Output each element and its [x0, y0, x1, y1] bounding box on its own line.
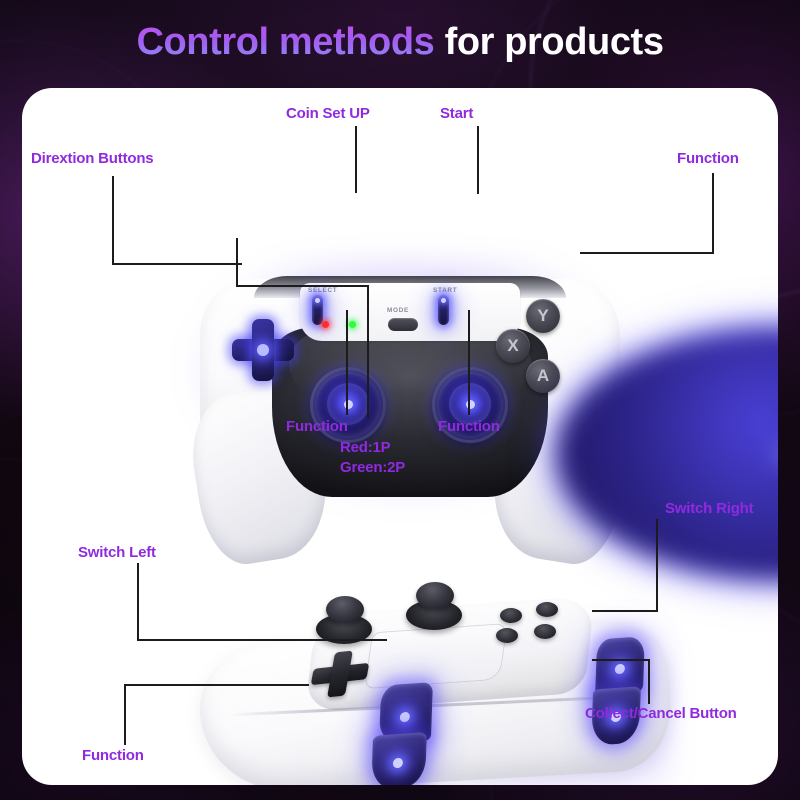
leader-line-collect-cancel-h	[592, 659, 650, 661]
leader-line-switch-left-h	[137, 639, 387, 641]
leader-line-function-bottom-v	[124, 684, 126, 745]
page-title-highlight: Control methods	[136, 21, 434, 63]
shoulder-led	[615, 664, 625, 675]
start-micro-label: START	[433, 287, 457, 294]
callout-led-legend-line1: Red:1P	[340, 438, 390, 458]
leader-line-direction-buttons-v	[112, 176, 114, 264]
page-title: Control methods for products	[0, 22, 800, 64]
leader-line-leds-h	[236, 285, 368, 287]
callout-function-right-stick: Function	[438, 418, 500, 436]
dpad-led-core	[257, 344, 269, 356]
dpad-direction-buttons[interactable]	[232, 319, 294, 381]
bottom-controller-illustration	[200, 576, 670, 785]
infographic-root: Control methods for products SELECT STAR…	[0, 0, 800, 800]
leader-line-function-bottom-h	[124, 684, 309, 686]
top-controller-illustration: SELECT START MODE	[200, 271, 620, 561]
leader-line-direction-buttons-h	[112, 263, 242, 265]
green-led-icon	[349, 321, 356, 328]
leader-line-collect-cancel-v	[648, 660, 650, 704]
stick-top	[326, 596, 364, 623]
callout-switch-left: Switch Left	[78, 544, 156, 562]
bottom-face-button-y[interactable]	[500, 608, 522, 623]
leader-line-function-right-v	[712, 173, 714, 253]
callout-function-left-stick: Function	[286, 418, 348, 436]
select-button[interactable]	[312, 295, 323, 325]
bottom-face-button-a[interactable]	[496, 628, 518, 643]
page-title-rest: for products	[434, 21, 663, 63]
start-button[interactable]	[438, 295, 449, 325]
y-button[interactable]: Y	[526, 299, 560, 333]
leader-line-leds-v1	[236, 238, 238, 286]
content-card: SELECT START MODE	[22, 88, 778, 785]
red-led-icon	[322, 321, 329, 328]
leader-line-function-left-stick	[346, 310, 348, 415]
callout-switch-right: Switch Right	[665, 500, 753, 518]
bottom-dpad[interactable]	[308, 649, 372, 700]
stick-top	[416, 582, 454, 609]
leader-line-start	[477, 126, 479, 194]
touchpad[interactable]	[364, 623, 508, 689]
shoulder-led	[400, 712, 410, 723]
leader-line-switch-left-v	[137, 563, 139, 640]
leader-line-function-right-h	[580, 252, 714, 254]
callout-collect-cancel: Collect/Cancel Button	[585, 705, 737, 723]
select-micro-label: SELECT	[308, 287, 337, 294]
callout-direction-buttons: Dirextion Buttons	[31, 150, 153, 168]
a-button[interactable]: A	[526, 359, 560, 393]
leader-line-leds-v2	[367, 285, 369, 418]
leader-line-switch-right-v	[656, 519, 658, 611]
leader-line-coin-set-up	[355, 126, 357, 193]
callout-start: Start	[440, 105, 473, 123]
callout-led-legend-line2: Green:2P	[340, 458, 405, 478]
callout-function-bottom-left: Function	[82, 747, 144, 765]
shoulder-led	[393, 758, 403, 769]
bottom-face-button-b[interactable]	[534, 624, 556, 639]
bottom-face-button-x[interactable]	[536, 602, 558, 617]
x-button[interactable]: X	[496, 329, 530, 363]
mode-micro-label: MODE	[387, 307, 409, 314]
leader-line-function-right-stick	[468, 310, 470, 415]
callout-coin-set-up: Coin Set UP	[286, 105, 370, 123]
leader-line-switch-right-h	[592, 610, 658, 612]
controller-top-plate: SELECT START MODE	[300, 283, 520, 341]
left-trigger-button-l2[interactable]	[371, 732, 427, 785]
callout-function-right: Function	[677, 150, 739, 168]
mode-button[interactable]	[388, 318, 418, 331]
